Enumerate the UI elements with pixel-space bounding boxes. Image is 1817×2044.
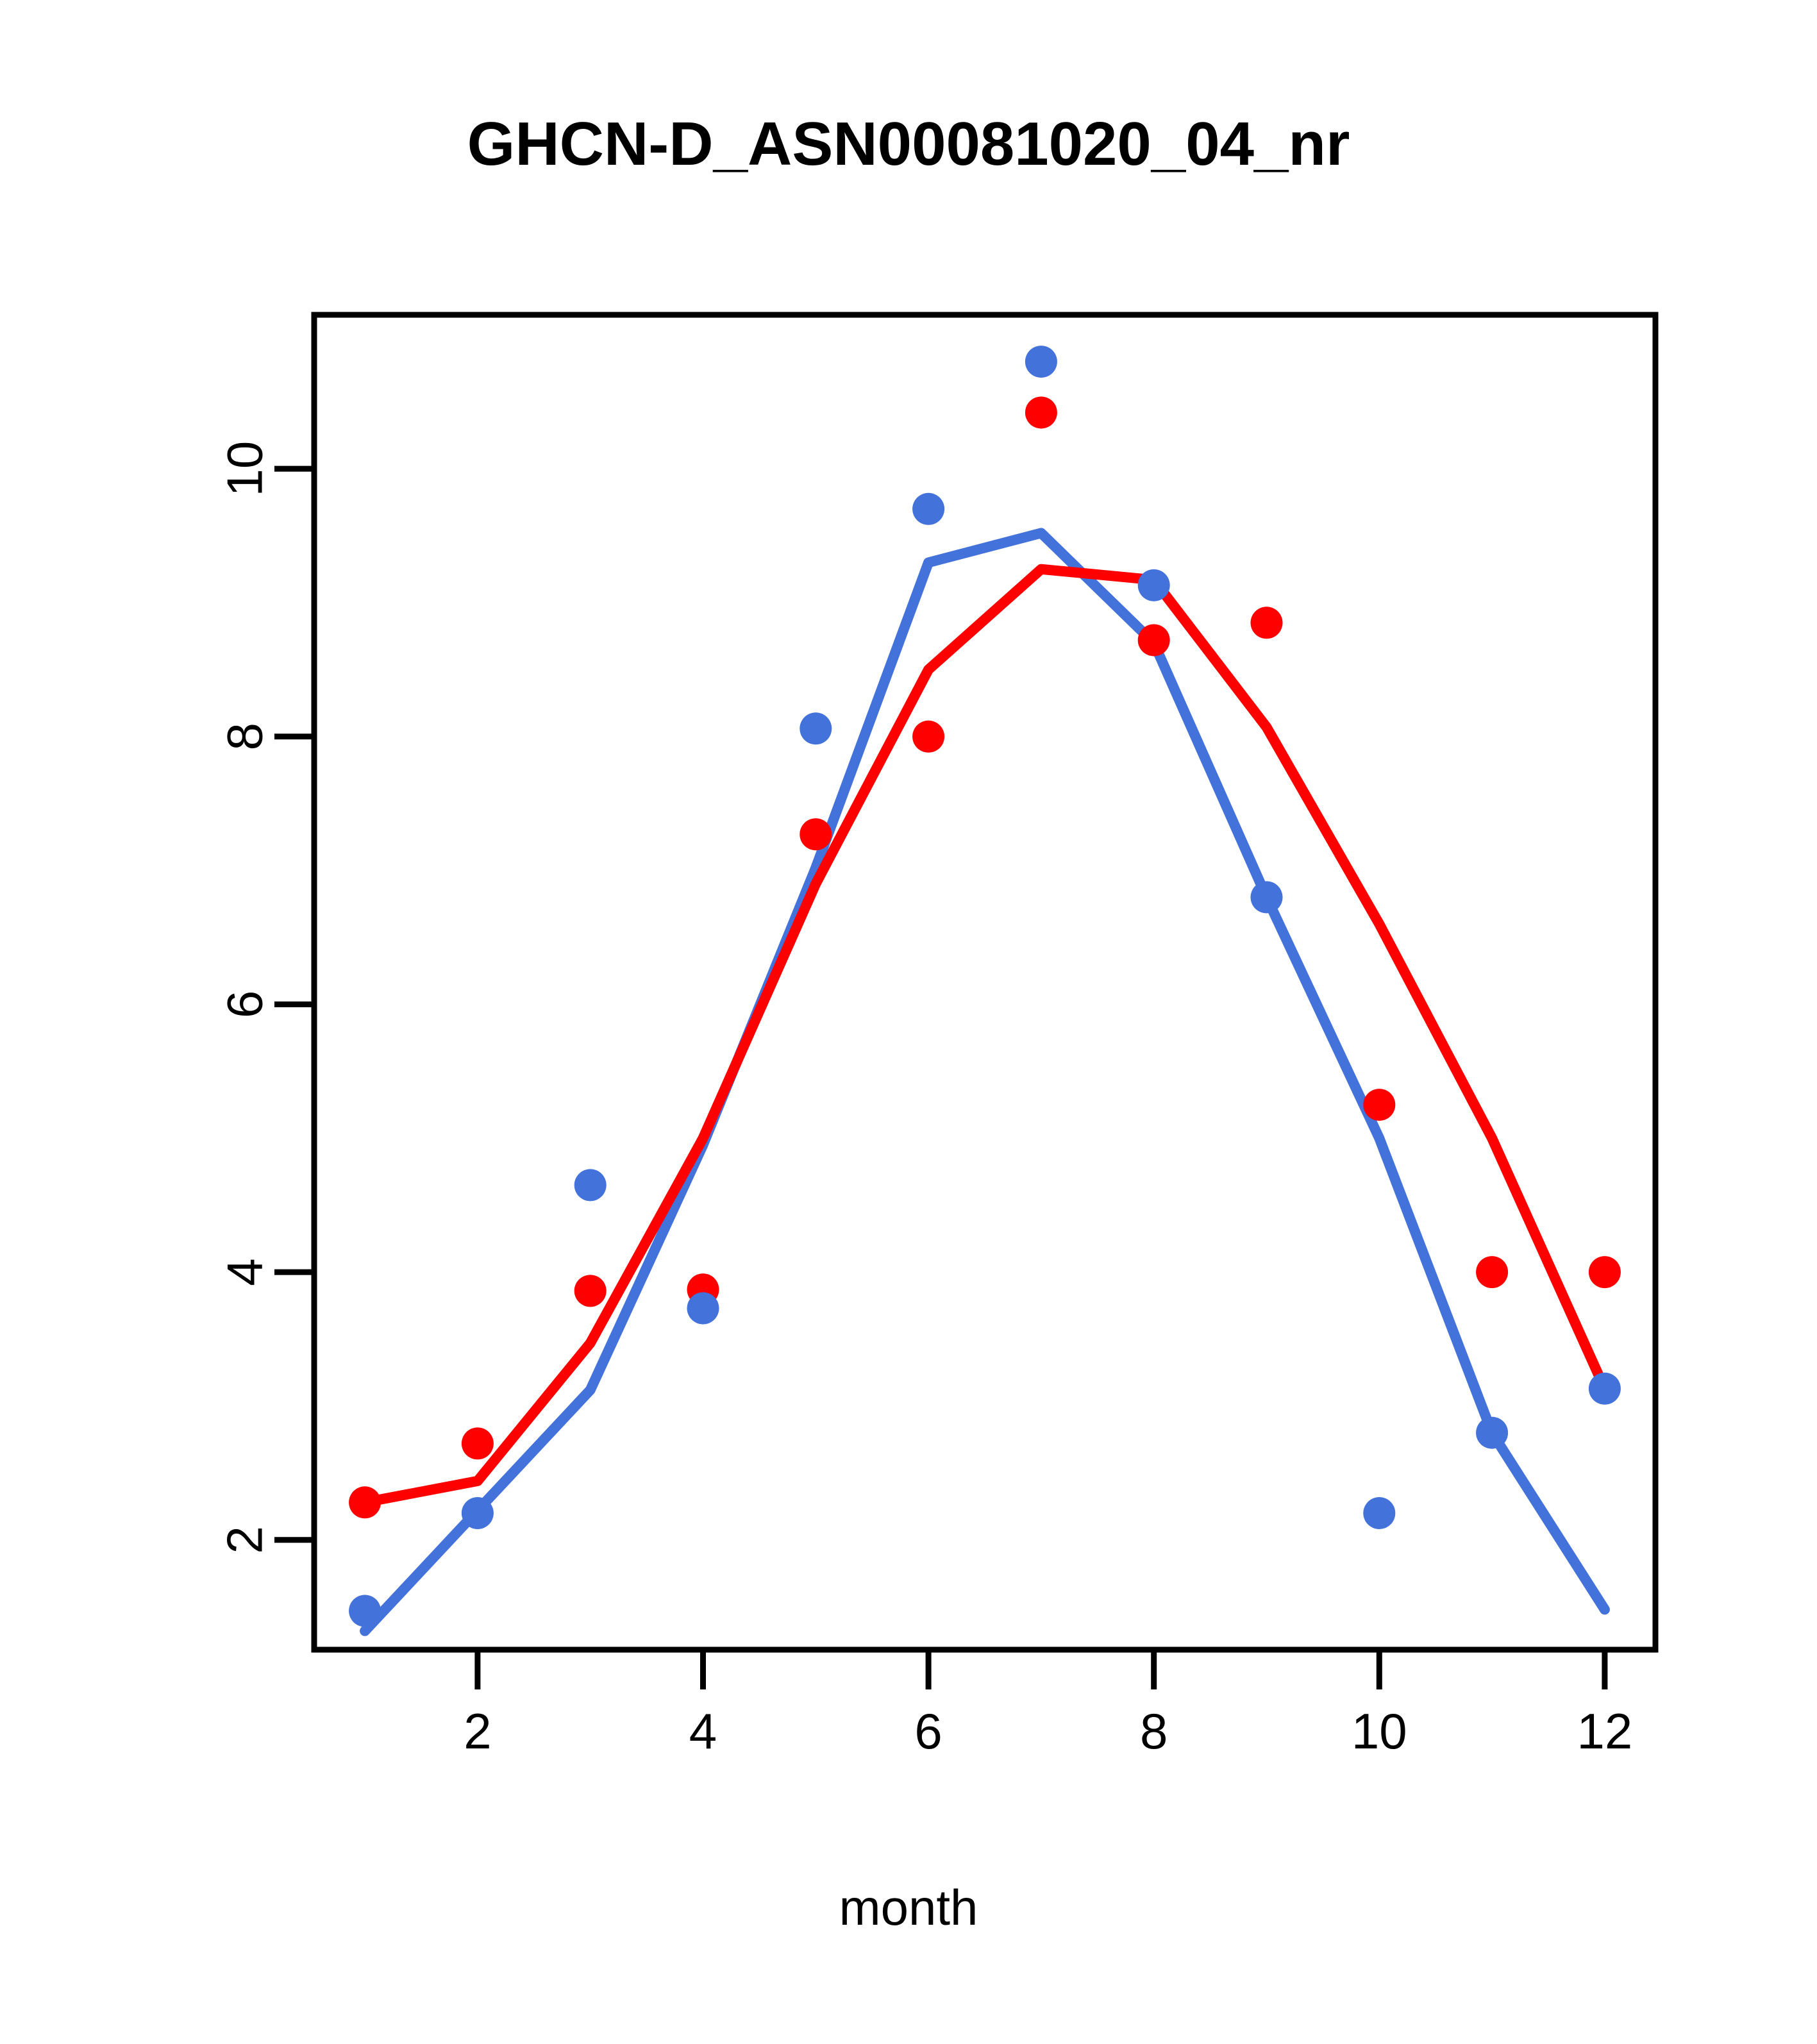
data-point <box>800 818 832 850</box>
series-red-line <box>365 569 1605 1503</box>
y-tick-label: 10 <box>217 441 273 497</box>
x-tick-label: 2 <box>464 1703 491 1759</box>
plot-frame <box>314 315 1655 1650</box>
data-point <box>1025 346 1057 378</box>
data-point <box>1476 1417 1508 1449</box>
data-point <box>574 1169 607 1201</box>
x-tick-label: 12 <box>1577 1703 1633 1759</box>
x-tick-label: 8 <box>1140 1703 1168 1759</box>
x-tick-label: 6 <box>914 1703 942 1759</box>
x-axis-tick-labels: 24681012 <box>464 1703 1632 1759</box>
data-point <box>800 712 832 744</box>
data-point <box>462 1427 494 1459</box>
series-blue-points <box>349 346 1621 1627</box>
data-point <box>687 1292 719 1324</box>
data-point <box>462 1497 494 1529</box>
series-red-points <box>349 396 1621 1518</box>
y-tick-label: 6 <box>217 991 273 1018</box>
data-point <box>1589 1373 1621 1405</box>
y-axis-ticks <box>274 469 314 1540</box>
data-point <box>349 1486 381 1518</box>
y-tick-label: 4 <box>217 1258 273 1286</box>
data-point <box>1363 1089 1395 1121</box>
data-point <box>1250 881 1282 913</box>
data-point <box>1589 1256 1621 1288</box>
data-point <box>1476 1256 1508 1288</box>
data-point <box>1138 569 1170 601</box>
y-tick-label: 2 <box>217 1526 273 1554</box>
plot-area: 24681012 246810 <box>0 0 1817 2044</box>
data-point <box>1138 624 1170 656</box>
x-tick-label: 10 <box>1352 1703 1407 1759</box>
data-point <box>349 1595 381 1627</box>
x-axis-label: month <box>0 1879 1817 1937</box>
data-point <box>574 1275 607 1307</box>
figure-canvas: GHCN-D_ASN00081020_04_nr 24681012 246810… <box>0 0 1817 2044</box>
data-point <box>1250 607 1282 639</box>
series-blue-line <box>365 533 1605 1630</box>
data-point <box>1025 396 1057 428</box>
data-point <box>912 721 944 753</box>
polyline-blue-line <box>365 533 1605 1630</box>
y-axis-tick-labels: 246810 <box>217 441 273 1554</box>
x-axis-ticks <box>478 1650 1605 1689</box>
data-point <box>1363 1497 1395 1529</box>
y-tick-label: 8 <box>217 723 273 750</box>
x-tick-label: 4 <box>689 1703 717 1759</box>
polyline-red-line <box>365 569 1605 1503</box>
data-point <box>912 493 944 525</box>
